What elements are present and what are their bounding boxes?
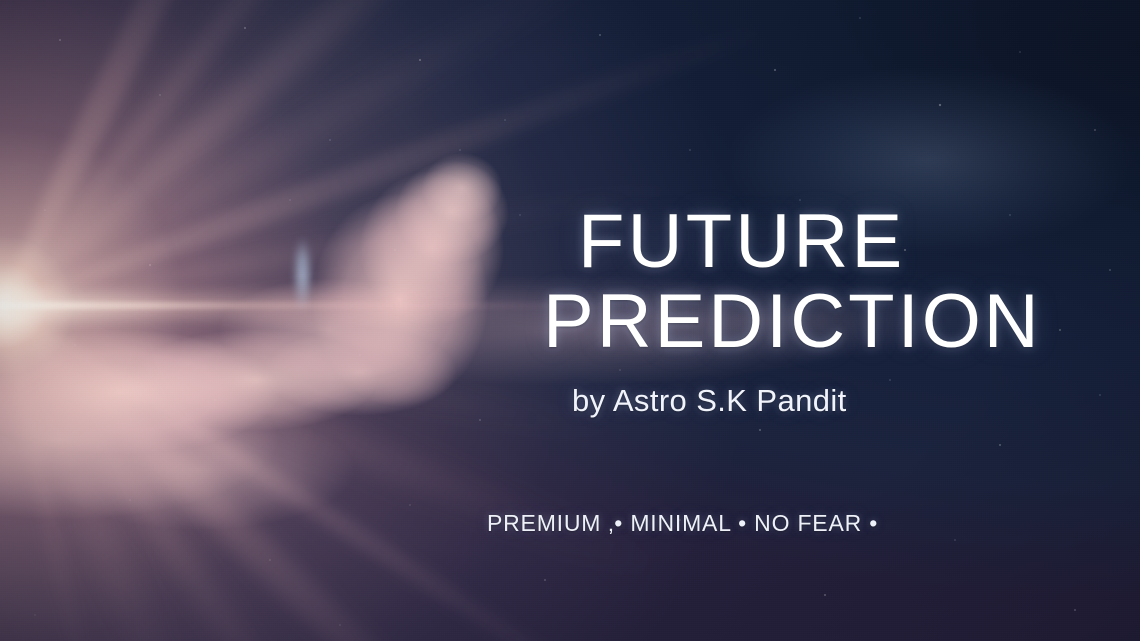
page-title-line-1: FUTURE (578, 204, 905, 280)
page-title-line-2: PREDICTION (543, 284, 1042, 360)
title-text-block: FUTURE PREDICTION by Astro S.K Pandit PR… (0, 0, 1140, 641)
title-card-canvas: FUTURE PREDICTION by Astro S.K Pandit PR… (0, 0, 1140, 641)
subtitle-author: by Astro S.K Pandit (572, 383, 847, 419)
tagline-keywords: PREMIUM ‚• MINIMAL • NO FEAR • (487, 510, 878, 537)
